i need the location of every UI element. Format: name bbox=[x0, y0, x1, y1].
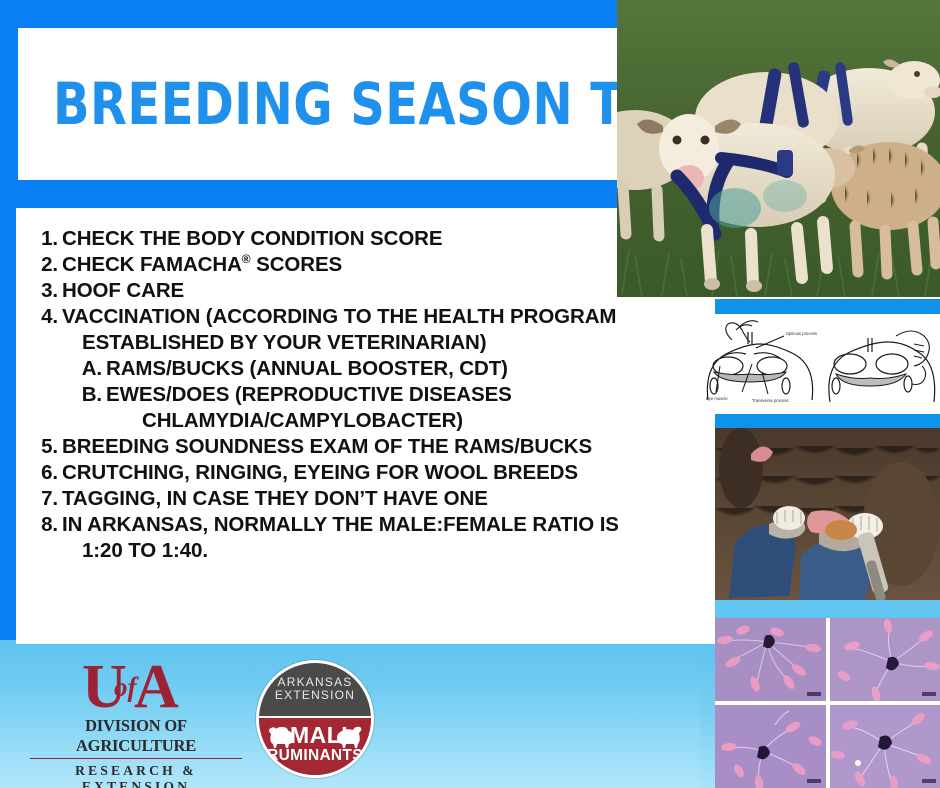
micrograph-illustration bbox=[715, 705, 826, 788]
micrograph-4 bbox=[830, 705, 940, 788]
poster-canvas: BREEDING SEASON TIPS 1. CHECK THE BODY C… bbox=[0, 0, 940, 788]
blue-divider-bar-bottom bbox=[715, 600, 940, 618]
blue-divider-bar-top bbox=[715, 299, 940, 314]
uofa-division-of-agriculture-logo: U of A DIVISION OF AGRICULTURE RESEARCH … bbox=[30, 658, 242, 780]
page-title: BREEDING SEASON TIPS bbox=[18, 75, 712, 133]
uofa-research-line: RESEARCH & EXTENSION bbox=[30, 763, 242, 788]
bse-photo-illustration bbox=[715, 428, 940, 600]
list-item-continuation: ESTABLISHED BY YOUR VETERINARIAN) bbox=[62, 330, 722, 356]
list-item: 8. IN ARKANSAS, NORMALLY THE MALE:FEMALE… bbox=[16, 512, 722, 564]
registered-mark-icon: ® bbox=[242, 252, 251, 266]
uofa-monogram-icon: U of A bbox=[30, 658, 242, 716]
monogram-a: A bbox=[134, 656, 179, 718]
list-item-text: HOOF CARE bbox=[62, 279, 184, 302]
list-item: A. RAMS/BUCKS (ANNUAL BOOSTER, CDT) bbox=[16, 356, 722, 382]
diagram-label-transverse: Transverse process bbox=[752, 398, 789, 403]
list-marker: A. bbox=[78, 356, 106, 382]
list-marker: 7. bbox=[34, 486, 62, 512]
uofa-division-line: DIVISION OF AGRICULTURE bbox=[30, 716, 242, 759]
blue-divider-bar-middle bbox=[715, 414, 940, 428]
list-marker: 4. bbox=[34, 304, 62, 330]
diagram-label-spinous: Spinous process bbox=[786, 331, 817, 336]
badge-line-ruminants: RUMINANTS bbox=[259, 748, 371, 764]
micrograph-1 bbox=[715, 618, 826, 701]
arkansas-extension-small-ruminants-badge: ARKANSAS EXTENSION SMALL RUMINANTS bbox=[256, 660, 374, 778]
list-marker: 5. bbox=[34, 434, 62, 460]
list-marker: 8. bbox=[34, 512, 62, 538]
list-item-text: CHECK THE BODY CONDITION SCORE bbox=[62, 227, 442, 250]
rams-photo bbox=[617, 0, 940, 297]
list-item-text: BREEDING SOUNDNESS EXAM OF THE RAMS/BUCK… bbox=[62, 435, 592, 458]
list-item-text: RAMS/BUCKS (ANNUAL BOOSTER, CDT) bbox=[106, 357, 508, 380]
list-item-text-suffix: SCORES bbox=[251, 253, 343, 276]
title-card: BREEDING SEASON TIPS bbox=[18, 28, 618, 180]
list-item-text: IN ARKANSAS, NORMALLY THE MALE:FEMALE RA… bbox=[62, 513, 619, 536]
rams-photo-illustration bbox=[617, 0, 940, 297]
micrograph-illustration bbox=[830, 618, 940, 701]
list-item-text: VACCINATION (ACCORDING TO THE HEALTH PRO… bbox=[62, 305, 616, 328]
list-item: 6. CRUTCHING, RINGING, EYEING FOR WOOL B… bbox=[16, 460, 722, 486]
diagram-label-eye-muscle: Eye muscle bbox=[706, 396, 728, 401]
blue-frame-left bbox=[0, 200, 16, 652]
list-marker: 6. bbox=[34, 460, 62, 486]
micrograph-3 bbox=[715, 705, 826, 788]
list-item: 7. TAGGING, IN CASE THEY DON’T HAVE ONE bbox=[16, 486, 722, 512]
list-marker: 1. bbox=[34, 226, 62, 252]
list-item: 4. VACCINATION (ACCORDING TO THE HEALTH … bbox=[16, 304, 722, 356]
list-item-text: TAGGING, IN CASE THEY DON’T HAVE ONE bbox=[62, 487, 488, 510]
badge-bottom-half: SMALL RUMINANTS bbox=[259, 716, 371, 777]
badge-line-arkansas: ARKANSAS bbox=[278, 676, 353, 690]
list-item-text: CHECK FAMACHA bbox=[62, 253, 242, 276]
micrograph-illustration bbox=[830, 705, 940, 788]
list-item-text: CRUTCHING, RINGING, EYEING FOR WOOL BREE… bbox=[62, 461, 578, 484]
badge-line-extension: EXTENSION bbox=[275, 689, 355, 703]
list-marker: 2. bbox=[34, 252, 62, 278]
badge-top-half: ARKANSAS EXTENSION bbox=[259, 663, 371, 716]
list-marker: B. bbox=[78, 382, 106, 408]
micrograph-2 bbox=[830, 618, 940, 701]
body-condition-diagram: Spinous process Eye muscle Transverse pr… bbox=[690, 314, 940, 414]
vertebra-cross-section-illustration: Spinous process Eye muscle Transverse pr… bbox=[690, 314, 940, 414]
micrograph-illustration bbox=[715, 618, 826, 701]
list-item: B. EWES/DOES (REPRODUCTIVE DISEASES CHLA… bbox=[16, 382, 722, 434]
badge-line-small: SMALL bbox=[259, 724, 371, 747]
list-item-continuation: CHLAMYDIA/CAMPYLOBACTER) bbox=[106, 408, 722, 434]
list-item-continuation: 1:20 TO 1:40. bbox=[62, 538, 722, 564]
list-item-text: EWES/DOES (REPRODUCTIVE DISEASES bbox=[106, 383, 512, 406]
list-item: 5. BREEDING SOUNDNESS EXAM OF THE RAMS/B… bbox=[16, 434, 722, 460]
sperm-micrograph-grid bbox=[715, 618, 940, 788]
breeding-soundness-exam-photo bbox=[715, 428, 940, 600]
list-marker: 3. bbox=[34, 278, 62, 304]
